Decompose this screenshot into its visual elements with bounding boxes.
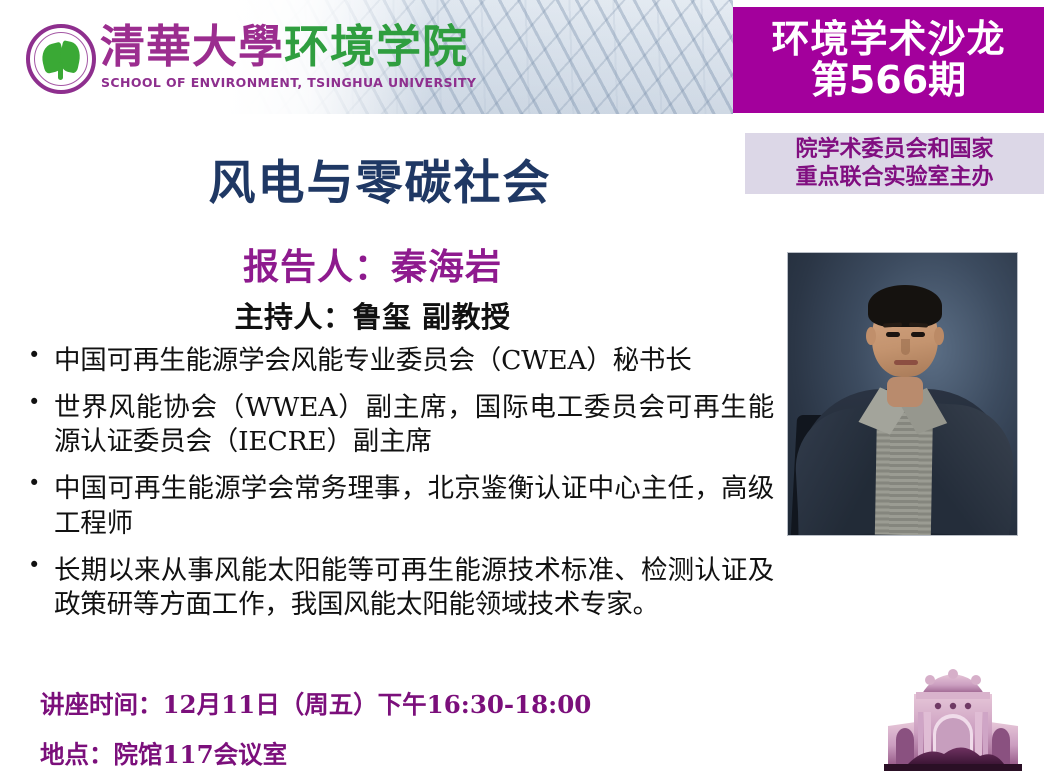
tsinghua-gate-icon xyxy=(878,668,1028,778)
banner-series-title: 环境学术沙龙 xyxy=(771,19,1005,60)
speaker-line: 报告人：秦海岩 xyxy=(0,247,745,288)
page-title: 风电与零碳社会 xyxy=(0,158,760,210)
tsinghua-soe-seal-icon xyxy=(26,24,96,94)
event-time: 讲座时间：12月11日（周五）下午16:30-18:00 xyxy=(40,686,591,721)
logo-university-name: 清華大學 xyxy=(100,20,284,73)
seminar-poster: 清華大學环境学院 SCHOOL OF ENVIRONMENT, TSINGHUA… xyxy=(0,0,1044,783)
logo-school-name: 环境学院 xyxy=(284,20,468,73)
school-logo-chinese: 清華大學环境学院 xyxy=(100,24,468,69)
school-logo-english: SCHOOL OF ENVIRONMENT, TSINGHUA UNIVERSI… xyxy=(101,75,476,90)
banner-issue-number: 第566期 xyxy=(811,60,966,101)
list-item: 中国可再生能源学会常务理事，北京鉴衡认证中心主任，高级工程师 xyxy=(14,472,774,541)
speaker-bio-list: 中国可再生能源学会风能专业委员会（CWEA）秘书长 世界风能协会（WWEA）副主… xyxy=(14,344,774,635)
organizer-badge: 院学术委员会和国家 重点联合实验室主办 xyxy=(745,133,1044,194)
event-series-banner: 环境学术沙龙 第566期 xyxy=(733,7,1044,113)
event-location: 地点：院馆117会议室 xyxy=(40,736,287,771)
list-item: 世界风能协会（WWEA）副主席，国际电工委员会可再生能源认证委员会（IECRE）… xyxy=(14,391,774,460)
list-item: 中国可再生能源学会风能专业委员会（CWEA）秘书长 xyxy=(14,344,774,379)
host-line: 主持人：鲁玺 副教授 xyxy=(0,301,745,334)
speaker-portrait-photo xyxy=(787,252,1018,536)
list-item: 长期以来从事风能太阳能等可再生能源技术标准、检测认证及政策研等方面工作，我国风能… xyxy=(14,554,774,623)
organizer-badge-line1: 院学术委员会和国家 xyxy=(795,136,993,164)
organizer-badge-line2: 重点联合实验室主办 xyxy=(795,164,993,192)
